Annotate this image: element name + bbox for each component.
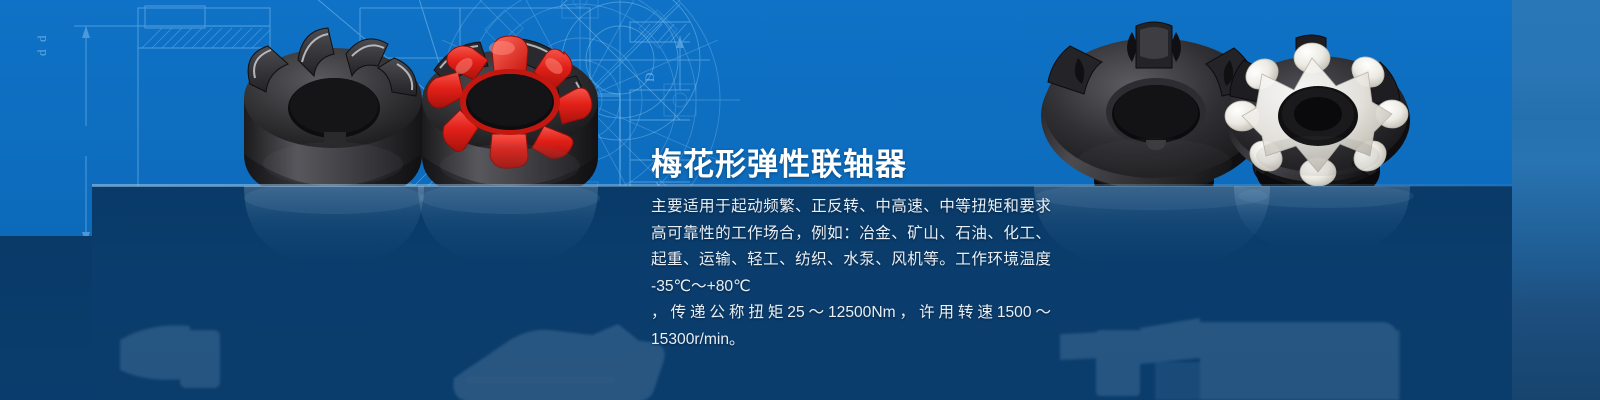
red-spider-coupling-left — [404, 14, 614, 204]
machinery-ghost-left — [120, 300, 420, 400]
left-reflection-overlay — [228, 186, 628, 316]
description-line-2: ，传递公称扭矩25～12500Nm，许用转速1500～15300r/min。 — [651, 300, 1051, 353]
product-description: 主要适用于起动频繁、正反转、中高速、中等扭矩和要求高可靠性的工作场合，例如：冶金… — [651, 194, 1051, 353]
machinery-ghost-right — [1000, 300, 1430, 400]
right-reflection-overlay — [1030, 186, 1430, 306]
white-spider-coupling-right — [1222, 24, 1422, 204]
description-line-1: 主要适用于起动频繁、正反转、中高速、中等扭矩和要求高可靠性的工作场合，例如：冶金… — [651, 194, 1051, 300]
background-dark-band-left — [0, 236, 92, 400]
background-right-top-fade — [1512, 0, 1600, 120]
page-title: 梅花形弹性联轴器 — [651, 139, 907, 184]
blueprint-dim-label-d: d — [34, 35, 49, 42]
blueprint-dim-label-d2: d — [34, 49, 49, 56]
product-banner: L L L₀ D d d s — [0, 0, 1600, 400]
